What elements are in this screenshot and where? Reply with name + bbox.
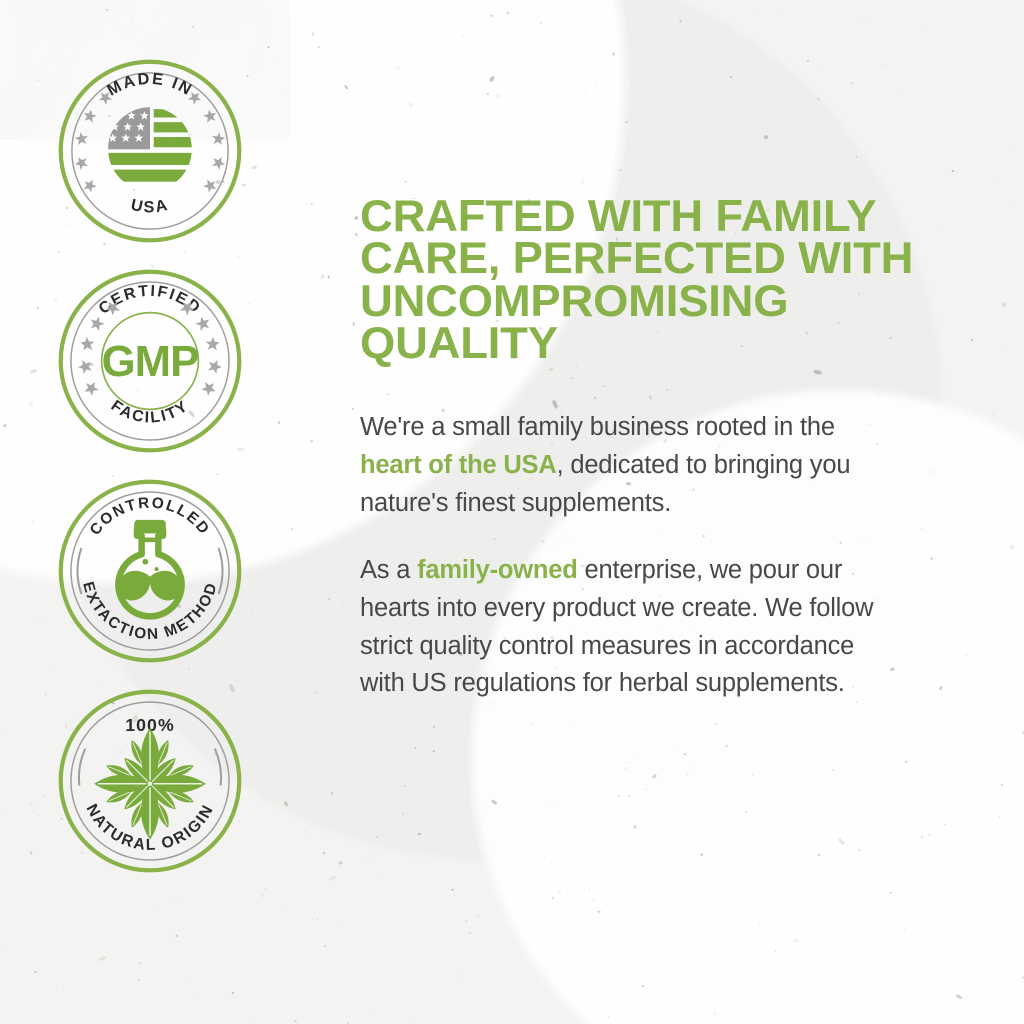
badge-natural-origin: 100% NATURAL ORIGIN — [57, 688, 243, 874]
paragraph-p2: As a family-owned enterprise, we pour ou… — [360, 552, 880, 703]
badge-bottom-label: USA — [129, 196, 171, 217]
highlighted-text: heart of the USA — [360, 451, 557, 479]
flask-leaf-icon — [118, 520, 181, 617]
badge-bottom-label: EXTACTION METHOD — [79, 580, 221, 643]
content-column: CRAFTED WITH FAMILY CARE, PERFECTED WITH… — [300, 0, 1024, 1024]
paragraph-text: As a — [360, 556, 417, 584]
badge-made-in-usa: MADE IN USA — [57, 58, 243, 244]
badge-controlled-extaction-method: CONTROLLED EXTACTION METHOD — [57, 478, 243, 664]
badge-gmp-certified-facility: CERTIFIED FACILITY GM — [57, 268, 243, 454]
usa-flag-circle-icon — [102, 107, 199, 181]
gmp-text-icon: GMP — [102, 337, 199, 386]
badge-top-label: MADE IN — [104, 70, 196, 100]
paragraph-p1: We're a small family business rooted in … — [360, 409, 880, 522]
trust-badge-column: MADE IN USA — [0, 0, 300, 1024]
paragraph-text: We're a small family business rooted in … — [360, 413, 835, 441]
body-copy: We're a small family business rooted in … — [360, 409, 904, 703]
badge-side-arcs — [78, 549, 223, 594]
highlighted-text: family-owned — [417, 556, 578, 584]
page-title: CRAFTED WITH FAMILY CARE, PERFECTED WITH… — [360, 196, 915, 365]
badge-bottom-label: FACILITY — [108, 397, 193, 426]
